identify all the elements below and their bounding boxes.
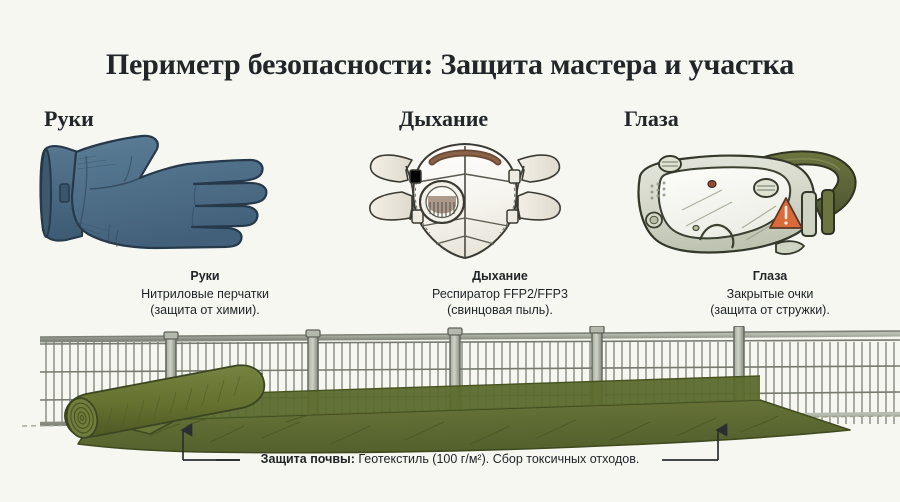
caption-respiration: Дыхание Респиратор FFP2/FFP3 (свинцовая … (360, 268, 640, 319)
infographic-root: Периметр безопасности: Защита мастера и … (0, 0, 900, 502)
glove-icon (36, 126, 316, 261)
respirator-mask-icon (366, 126, 566, 266)
caption-line2-hands: (защита от химии). (65, 302, 345, 319)
caption-eyes: Глаза Закрытые очки (защита от стружки). (640, 268, 900, 319)
caption-line1-respiration: Респиратор FFP2/FFP3 (360, 286, 640, 303)
caption-line1-hands: Нитриловые перчатки (65, 286, 345, 303)
safety-goggles-icon (626, 128, 876, 268)
caption-line2-respiration: (свинцовая пыль). (360, 302, 640, 319)
caption-hands: Руки Нитриловые перчатки (защита от хими… (65, 268, 345, 319)
page-title: Периметр безопасности: Защита мастера и … (0, 48, 900, 82)
caption-line2-eyes: (защита от стружки). (640, 302, 900, 319)
caption-title-eyes: Глаза (640, 268, 900, 285)
soil-protection-note-rest: Геотекстиль (100 г/м²). Сбор токсичных о… (355, 452, 639, 466)
soil-protection-note-strong: Защита почвы: (261, 452, 355, 466)
soil-protection-note: Защита почвы: Геотекстиль (100 г/м²). Сб… (0, 452, 900, 466)
caption-title-hands: Руки (65, 268, 345, 285)
caption-line1-eyes: Закрытые очки (640, 286, 900, 303)
caption-title-respiration: Дыхание (360, 268, 640, 285)
